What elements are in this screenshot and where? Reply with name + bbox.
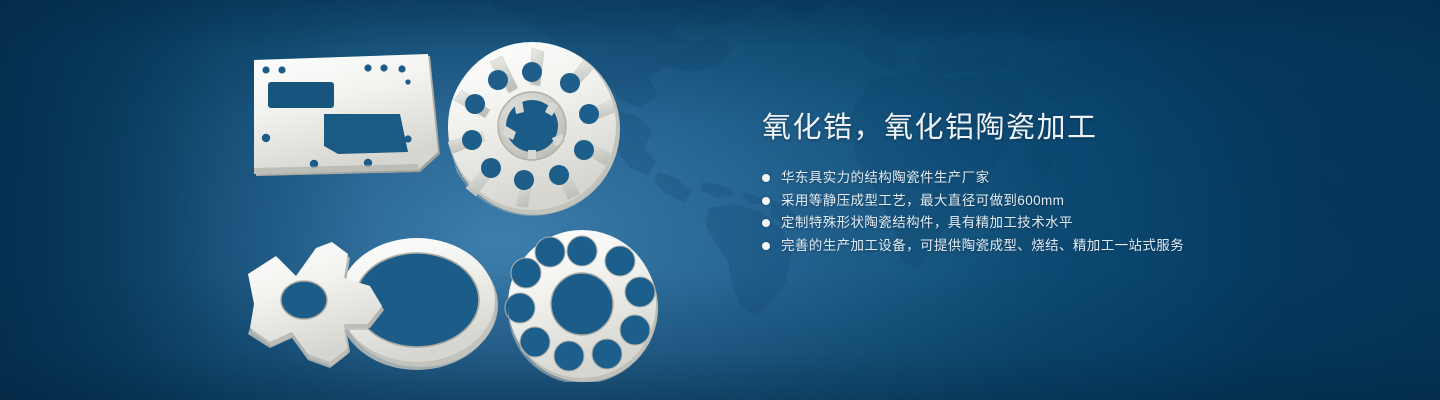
ceramic-impeller-rotor (448, 42, 620, 216)
feature-text: 定制特殊形状陶瓷结构件，具有精加工技术水平 (781, 212, 1073, 235)
list-item: 采用等静压成型工艺，最大直径可做到600mm (762, 190, 1382, 213)
list-item: 完善的生产加工设备，可提供陶瓷成型、烧结、精加工一站式服务 (762, 235, 1382, 258)
bullet-dot-icon (762, 219, 770, 227)
bullet-dot-icon (762, 197, 770, 205)
feature-list: 华东具实力的结构陶瓷件生产厂家 采用等静压成型工艺，最大直径可做到600mm 定… (762, 167, 1382, 257)
ceramic-hole-disc (505, 230, 658, 382)
feature-text: 完善的生产加工设备，可提供陶瓷成型、烧结、精加工一站式服务 (781, 235, 1184, 258)
banner-text-block: 氧化锆，氧化铝陶瓷加工 华东具实力的结构陶瓷件生产厂家 采用等静压成型工艺，最大… (762, 108, 1382, 273)
feature-text: 华东具实力的结构陶瓷件生产厂家 (781, 167, 990, 190)
banner-headline: 氧化锆，氧化铝陶瓷加工 (762, 108, 1382, 148)
ceramic-products-group (232, 42, 702, 382)
promo-banner: 氧化锆，氧化铝陶瓷加工 华东具实力的结构陶瓷件生产厂家 采用等静压成型工艺，最大… (0, 0, 1440, 400)
ceramic-mounting-plate (254, 54, 440, 176)
list-item: 华东具实力的结构陶瓷件生产厂家 (762, 167, 1382, 190)
list-item: 定制特殊形状陶瓷结构件，具有精加工技术水平 (762, 212, 1382, 235)
feature-text: 采用等静压成型工艺，最大直径可做到600mm (781, 190, 1064, 213)
bullet-dot-icon (762, 174, 770, 182)
bullet-dot-icon (762, 242, 770, 250)
